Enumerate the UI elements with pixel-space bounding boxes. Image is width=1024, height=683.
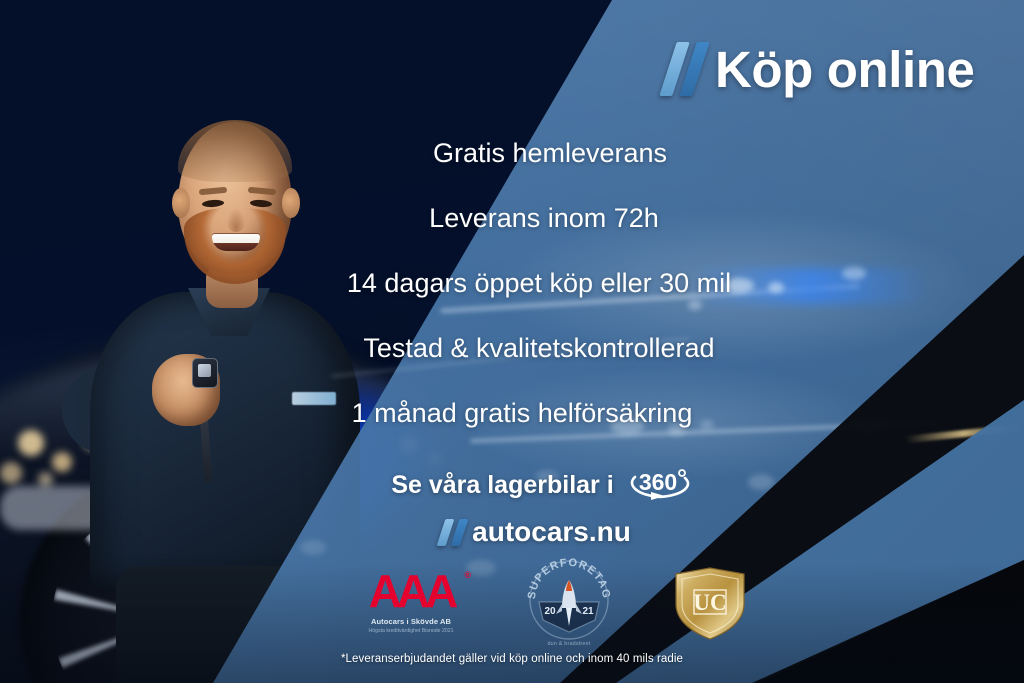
uc-shield-logo: UC (668, 560, 752, 644)
superforetag-source: dun & bradstreet (523, 641, 615, 647)
cta-primary-line: Se våra lagerbilar i 360 (391, 464, 694, 506)
benefit-item: Gratis hemleverans (433, 140, 667, 167)
call-to-action[interactable]: Se våra lagerbilar i 360 autocars.nu (0, 464, 1024, 546)
double-slash-logo-icon (668, 42, 701, 96)
benefits-list: Gratis hemleverans Leverans inom 72h 14 … (0, 140, 1024, 427)
headline-row: Köp online (668, 42, 974, 96)
footer-disclaimer: *Leveranserbjudandet gäller vid köp onli… (0, 653, 1024, 665)
registered-trademark-icon: ® (464, 570, 471, 580)
website-url[interactable]: autocars.nu (472, 518, 631, 546)
cta-label: Se våra lagerbilar i (391, 473, 613, 498)
benefit-item: Testad & kvalitetskontrollerad (363, 335, 714, 362)
page-title: Köp online (715, 44, 974, 95)
rotate-360-icon: 360 (625, 464, 695, 506)
uc-mark-text: UC (693, 590, 726, 615)
slash-stroke-dark (451, 519, 469, 546)
superforetag-badge-logo: SUPERFÖRETAG 20 21 dun & bradstreet (523, 558, 615, 646)
svg-text:360: 360 (638, 469, 676, 495)
double-slash-logo-icon (441, 519, 464, 546)
superforetag-year-left: 20 (544, 606, 556, 617)
aaa-fine-print: Högsta kreditvärdighet Bisnode 2021 (352, 628, 470, 636)
banner-content: Köp online Gratis hemleverans Leverans i… (0, 0, 1024, 683)
superforetag-year-right: 21 (582, 606, 594, 617)
advertisement-banner: Köp online Gratis hemleverans Leverans i… (0, 0, 1024, 683)
benefit-item: 14 dagars öppet köp eller 30 mil (347, 270, 731, 297)
aaa-mark-text: AAA (352, 568, 470, 614)
cta-domain-line[interactable]: autocars.nu (441, 518, 631, 546)
aaa-company-name: Autocars i Skövde AB (352, 617, 470, 626)
trust-logos-row: AAA ® Autocars i Skövde AB Högsta kredit… (352, 556, 752, 648)
benefit-item: 1 månad gratis helförsäkring (352, 400, 693, 427)
aaa-credit-rating-logo: AAA ® Autocars i Skövde AB Högsta kredit… (352, 568, 470, 636)
benefit-item: Leverans inom 72h (429, 205, 659, 232)
